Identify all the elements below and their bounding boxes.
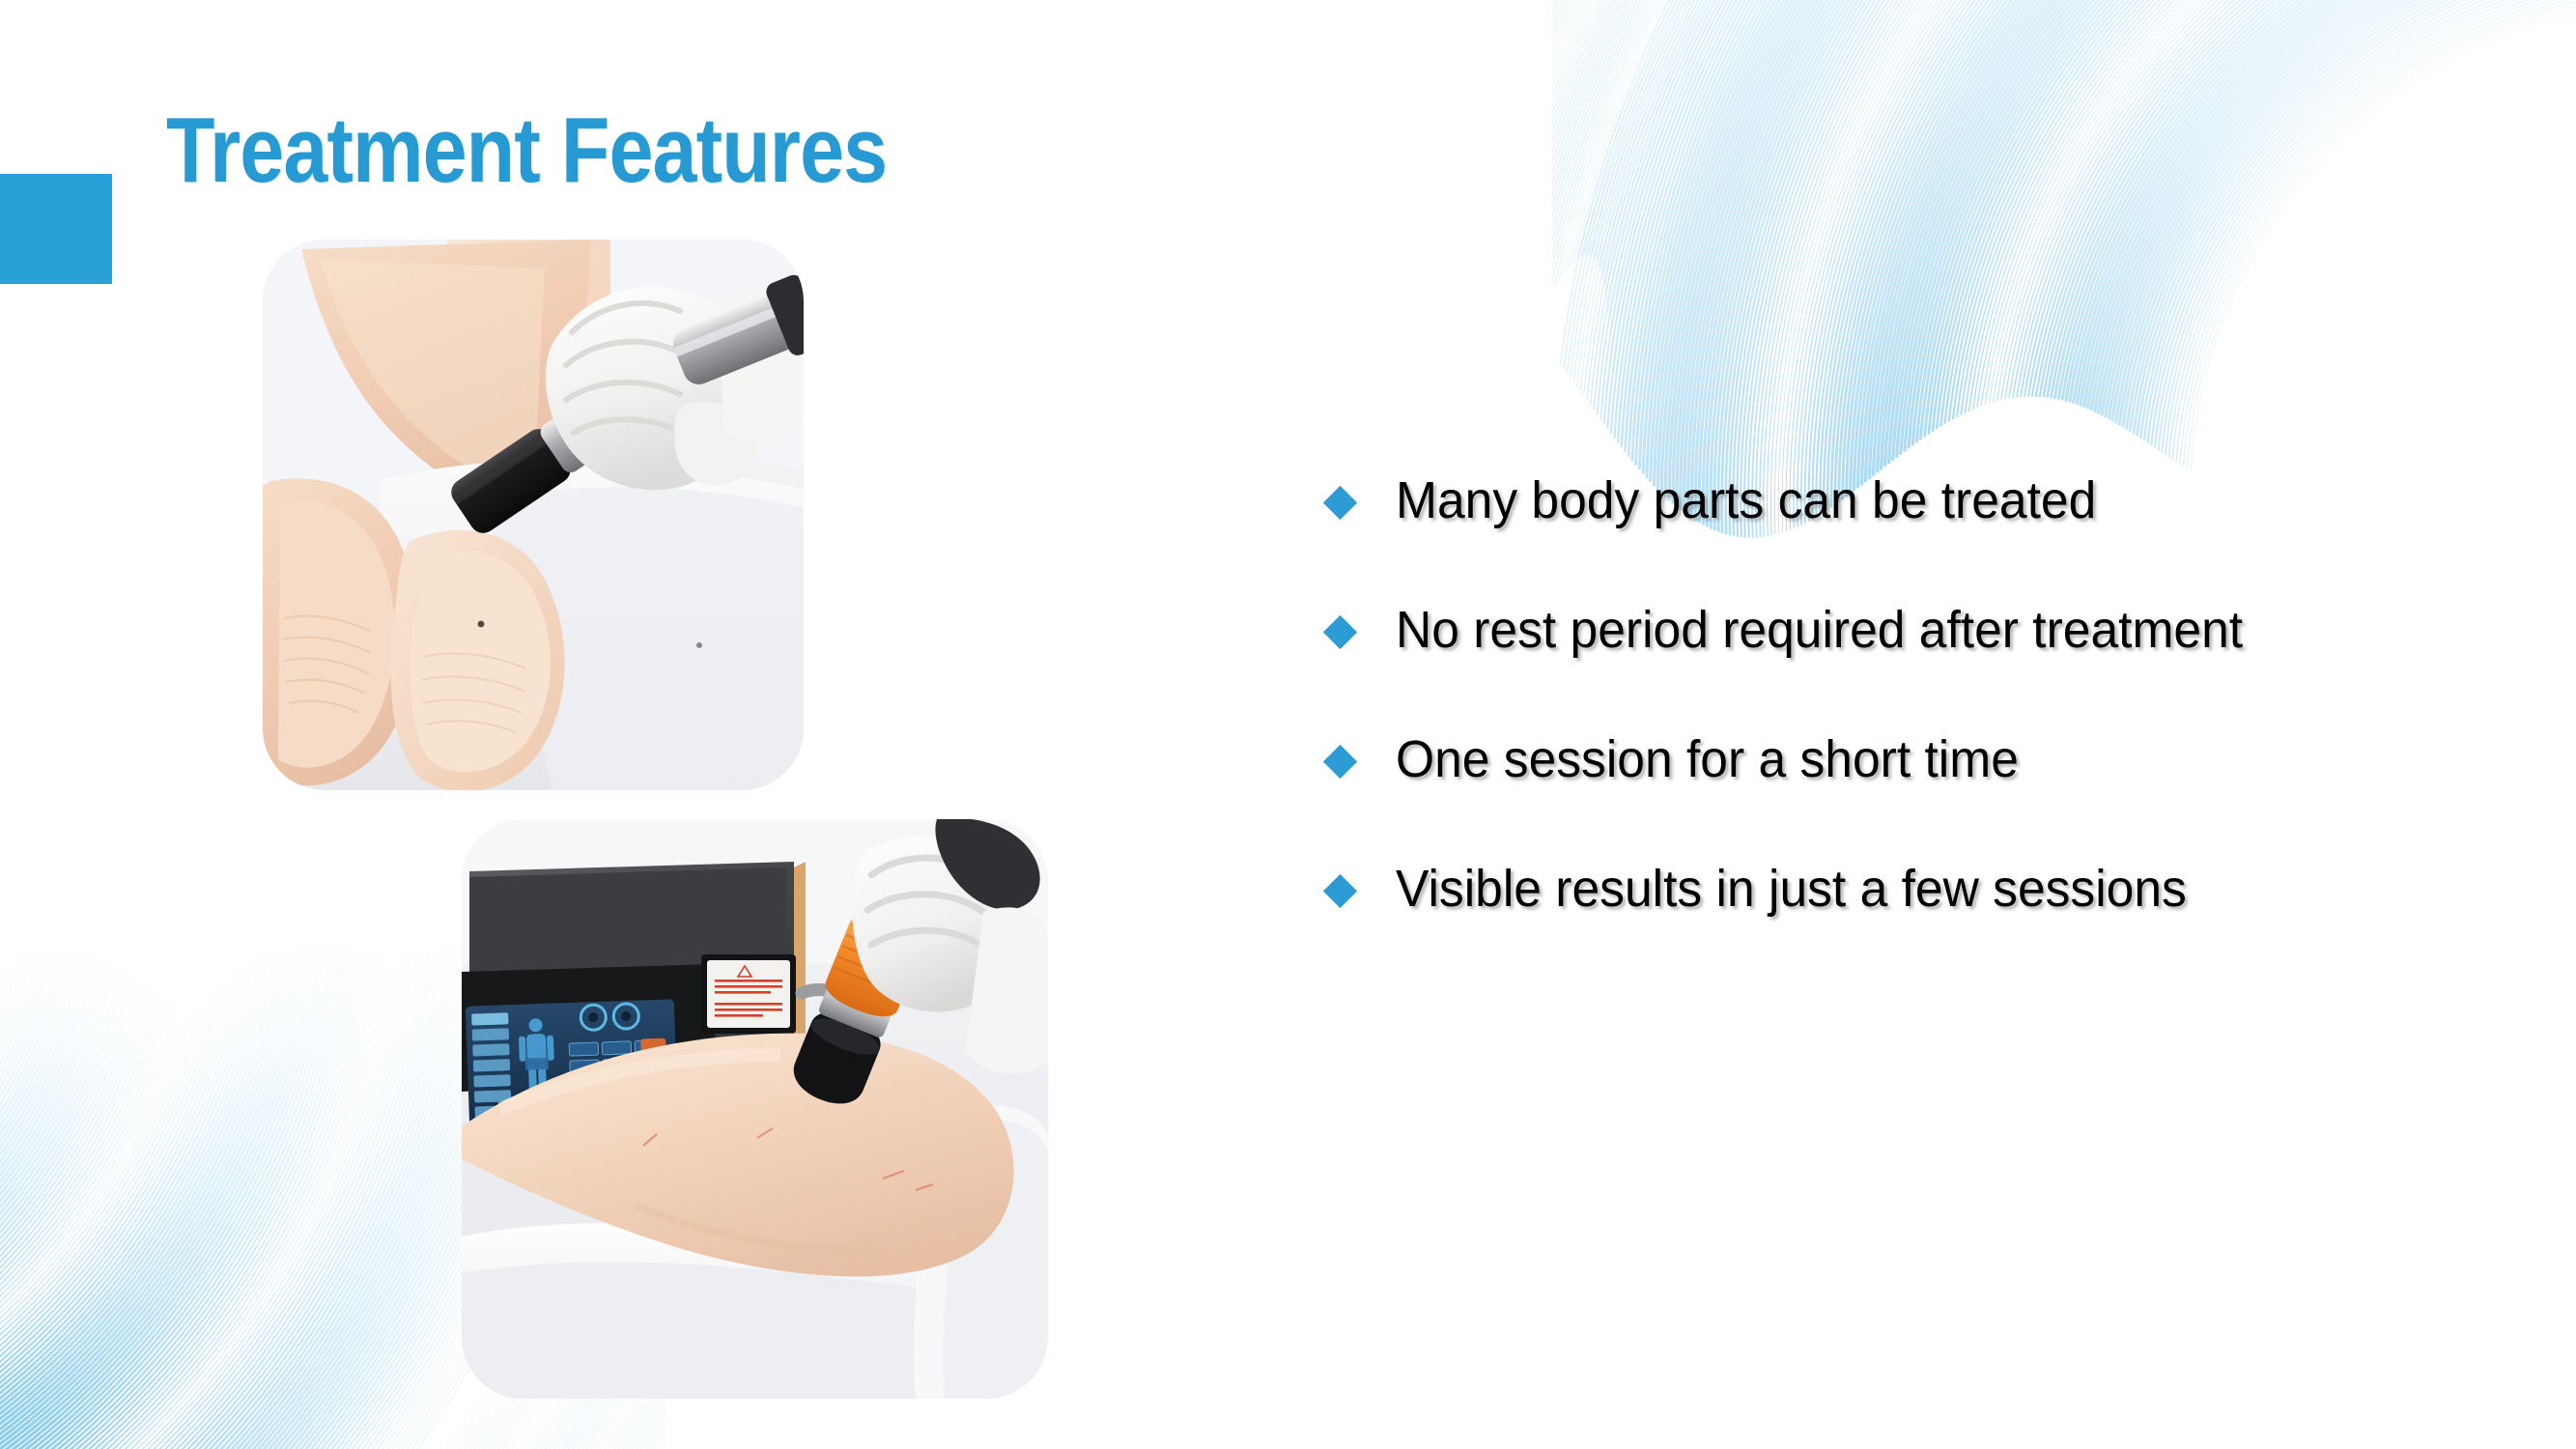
list-item: One session for a short time	[1328, 734, 2468, 864]
leg-treatment-illustration	[462, 819, 1048, 1399]
foot-treatment-illustration	[263, 240, 804, 790]
list-item-label: Many body parts can be treated	[1396, 469, 2096, 531]
list-item: Visible results in just a few sessions	[1328, 864, 2468, 993]
image-shockwave-device-leg-treatment	[462, 819, 1048, 1399]
presentation-slide: Treatment Features	[0, 0, 2576, 1449]
title-accent-square	[0, 174, 112, 284]
list-item: Many body parts can be treated	[1328, 475, 2468, 605]
list-item: No rest period required after treatment	[1328, 605, 2468, 734]
page-title: Treatment Features	[166, 104, 887, 197]
image-shockwave-therapy-on-foot	[263, 240, 804, 790]
list-item-label: One session for a short time	[1396, 728, 2019, 790]
diamond-bullet-icon	[1323, 745, 1357, 779]
diamond-bullet-icon	[1323, 615, 1357, 649]
diamond-bullet-icon	[1323, 874, 1357, 908]
list-item-label: No rest period required after treatment	[1396, 599, 2243, 661]
diamond-bullet-icon	[1323, 486, 1357, 520]
list-item-label: Visible results in just a few sessions	[1396, 858, 2187, 920]
feature-bullet-list: Many body parts can be treated No rest p…	[1328, 475, 2468, 993]
